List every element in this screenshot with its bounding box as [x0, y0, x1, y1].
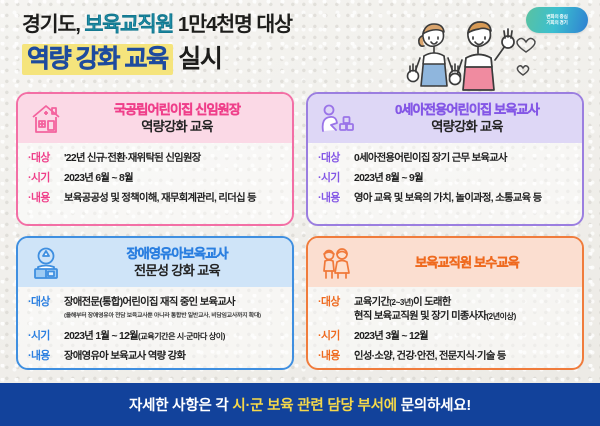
card-header: 국공립어린이집 신임원장 역량강화 교육 [18, 94, 292, 143]
row-value: '22년 신규·전환·재위탁된 신임원장 [64, 152, 201, 165]
card-title: 국공립어린이집 신임원장 역량강화 교육 [68, 102, 292, 135]
card-title: 보육교직원 보수교육 [358, 255, 582, 271]
row-note: (올해부터 장애영유아 전담 보육교사뿐 아니라 통합반 일반교사, 비담임교사… [64, 310, 261, 323]
reading-person-icon [26, 243, 66, 283]
row-value: 2023년 1월 ~ 12월(교육기간은 시·군마다 상이) [64, 330, 225, 343]
two-children-icon [316, 243, 356, 283]
card-body: ·대상 '22년 신규·전환·재위탁된 신임원장 ·시기 2023년 6월 ~ … [18, 143, 292, 205]
row-value-line-2: 현직 보육교직원 및 장기 미종사자(2년이상) [354, 310, 516, 323]
poster-root: 경기도, 보육교직원 1만4천명 대상 역량 강화 교육 실시 [0, 0, 600, 426]
poster-header: 경기도, 보육교직원 1만4천명 대상 역량 강화 교육 실시 [0, 0, 600, 92]
footer-banner: 자세한 사항은 각 시·군 보육 관련 담당 부서에 문의하세요! [0, 383, 600, 426]
row-label: ·시기 [318, 172, 354, 185]
row-label: ·시기 [28, 330, 64, 343]
card-row-content: ·내용 보육공공성 및 정책이해, 재무회계관리, 리더십 등 [28, 192, 284, 205]
program-card-disabled-infant-teacher: 장애영유아보육교사 전문성 강화 교육 ·대상 장애전문(통합)어린이집 재직 … [16, 236, 294, 370]
row-label: ·내용 [318, 350, 354, 363]
title-pre: 경기도, [22, 13, 84, 36]
card-row-period: ·시기 2023년 8월 ~ 9월 [318, 172, 574, 185]
row-value: 2023년 3월 ~ 12월 [354, 330, 428, 343]
child-blocks-icon [316, 99, 356, 139]
row-label: ·대상 [318, 296, 354, 323]
row-value-small: (교육기간은 시·군마다 상이) [138, 332, 225, 341]
card-title-line-2: 역량강화 교육 [68, 118, 286, 135]
title-highlight-teal: 보육교직원 [84, 13, 173, 36]
title-line-1: 경기도, 보육교직원 1만4천명 대상 [22, 10, 442, 40]
house-icon [26, 99, 66, 139]
row-value: 2023년 6월 ~ 8월 [64, 172, 133, 185]
row-label: ·시기 [28, 172, 64, 185]
row-value: 인성·소양, 건강·안전, 전문지식·기술 등 [354, 350, 506, 363]
card-row-target: ·대상 교육기간(2~3년)이 도래한 현직 보육교직원 및 장기 미종사자(2… [318, 296, 574, 323]
card-row-target: ·대상 '22년 신규·전환·재위탁된 신임원장 [28, 152, 284, 165]
row-value-line-2-main: 현직 보육교직원 및 장기 미종사자 [354, 311, 486, 322]
card-title: 장애영유아보육교사 전문성 강화 교육 [68, 246, 292, 279]
program-cards-grid: 국공립어린이집 신임원장 역량강화 교육 ·대상 '22년 신규·전환·재위탁된… [16, 92, 584, 372]
row-label: ·시기 [318, 330, 354, 343]
card-row-content: ·내용 영아 교육 및 보육의 가치, 놀이과정, 소통교육 등 [318, 192, 574, 205]
title-line-2-post: 실시 [173, 45, 222, 73]
gyeonggi-brand-logo: 변화의 중심 기회의 경기 [526, 7, 588, 33]
row-value: 영아 교육 및 보육의 가치, 놀이과정, 소통교육 등 [354, 192, 542, 205]
row-label: ·내용 [318, 192, 354, 205]
card-title-line-1: 보육교직원 보수교육 [358, 255, 576, 271]
card-row-target: ·대상 장애전문(통합)어린이집 재직 중인 보육교사 (올해부터 장애영유아 … [28, 296, 284, 323]
title-highlight-yellow: 역량 강화 교육 [22, 44, 173, 75]
card-row-period: ·시기 2023년 6월 ~ 8월 [28, 172, 284, 185]
program-card-refresher-training: 보육교직원 보수교육 ·대상 교육기간(2~3년)이 도래한 현직 보육교직원 … [306, 236, 584, 370]
row-value-main: 2023년 1월 ~ 12월 [64, 331, 138, 342]
card-title-line-2: 역량강화 교육 [358, 118, 576, 135]
program-card-infant-daycare-teacher: 0세아전용어린이집 보육교사 역량강화 교육 ·대상 0세아전용어린이집 장기 … [306, 92, 584, 226]
card-row-content: ·내용 인성·소양, 건강·안전, 전문지식·기술 등 [318, 350, 574, 363]
card-title: 0세아전용어린이집 보육교사 역량강화 교육 [358, 102, 582, 135]
row-value: 교육기간(2~3년)이 도래한 [354, 296, 516, 309]
card-title-line-1: 0세아전용어린이집 보육교사 [358, 102, 576, 118]
row-label: ·대상 [28, 296, 64, 323]
footer-text-post: 문의하세요! [397, 398, 471, 414]
card-row-content: ·내용 장애영유아 보육교사 역량 강화 [28, 350, 284, 363]
card-body: ·대상 교육기간(2~3년)이 도래한 현직 보육교직원 및 장기 미종사자(2… [308, 287, 582, 363]
card-row-target: ·대상 0세아전용어린이집 장기 근무 보육교사 [318, 152, 574, 165]
row-label: ·대상 [28, 152, 64, 165]
row-value-main: 교육기간 [354, 297, 389, 308]
row-value: 장애영유아 보육교사 역량 강화 [64, 350, 185, 363]
row-value-line-2-small: (2년이상) [486, 312, 515, 321]
row-value: 0세아전용어린이집 장기 근무 보육교사 [354, 152, 507, 165]
card-row-period: ·시기 2023년 1월 ~ 12월(교육기간은 시·군마다 상이) [28, 330, 284, 343]
card-title-line-2: 전문성 강화 교육 [68, 262, 286, 279]
footer-text-highlight: 시·군 보육 관련 담당 부서에 [232, 398, 396, 414]
program-card-public-daycare-director: 국공립어린이집 신임원장 역량강화 교육 ·대상 '22년 신규·전환·재위탁된… [16, 92, 294, 226]
card-header: 장애영유아보육교사 전문성 강화 교육 [18, 238, 292, 287]
footer-text: 자세한 사항은 각 시·군 보육 관련 담당 부서에 문의하세요! [129, 394, 471, 415]
card-title-line-1: 장애영유아보육교사 [68, 246, 286, 262]
card-row-period: ·시기 2023년 3월 ~ 12월 [318, 330, 574, 343]
card-title-line-1: 국공립어린이집 신임원장 [68, 102, 286, 118]
card-body: ·대상 장애전문(통합)어린이집 재직 중인 보육교사 (올해부터 장애영유아 … [18, 287, 292, 363]
card-header: 0세아전용어린이집 보육교사 역량강화 교육 [308, 94, 582, 143]
row-value-tail: 이 도래한 [413, 297, 451, 308]
row-label: ·대상 [318, 152, 354, 165]
footer-text-pre: 자세한 사항은 각 [129, 398, 232, 414]
row-label: ·내용 [28, 192, 64, 205]
row-value: 장애전문(통합)어린이집 재직 중인 보육교사 [64, 296, 261, 309]
brand-line-2: 기회의 경기 [546, 20, 567, 26]
row-value: 2023년 8월 ~ 9월 [354, 172, 423, 185]
card-header: 보육교직원 보수교육 [308, 238, 582, 287]
row-value: 보육공공성 및 정책이해, 재무회계관리, 리더십 등 [64, 192, 256, 205]
title-post: 1만4천명 대상 [173, 13, 292, 36]
card-body: ·대상 0세아전용어린이집 장기 근무 보육교사 ·시기 2023년 8월 ~ … [308, 143, 582, 205]
title-line-2: 역량 강화 교육 실시 [22, 42, 442, 76]
page-title: 경기도, 보육교직원 1만4천명 대상 역량 강화 교육 실시 [22, 10, 442, 76]
row-label: ·내용 [28, 350, 64, 363]
row-value-small: (2~3년) [389, 298, 413, 307]
